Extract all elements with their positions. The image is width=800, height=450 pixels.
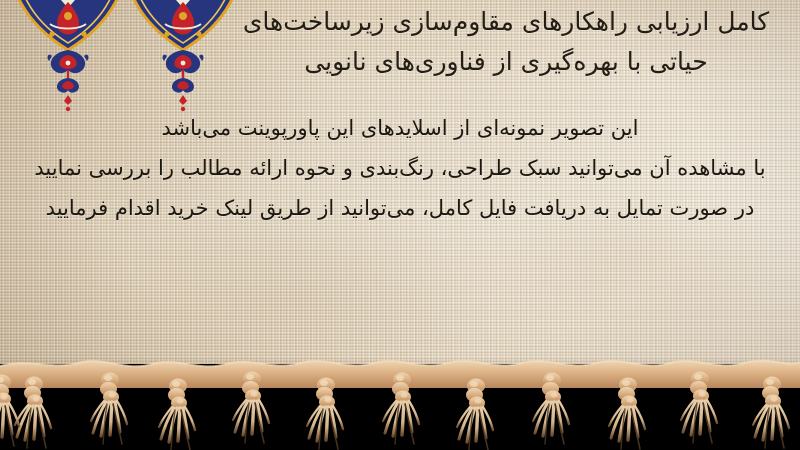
presentation-slide: کامل ارزیابی راهکارهای مقاوم‌سازی زیرساخ… — [0, 0, 800, 450]
linen-weave-texture-secondary — [0, 0, 800, 378]
carpet-canvas-background — [0, 0, 800, 378]
bottom-black-band — [0, 364, 800, 450]
linen-weave-texture — [0, 0, 800, 378]
